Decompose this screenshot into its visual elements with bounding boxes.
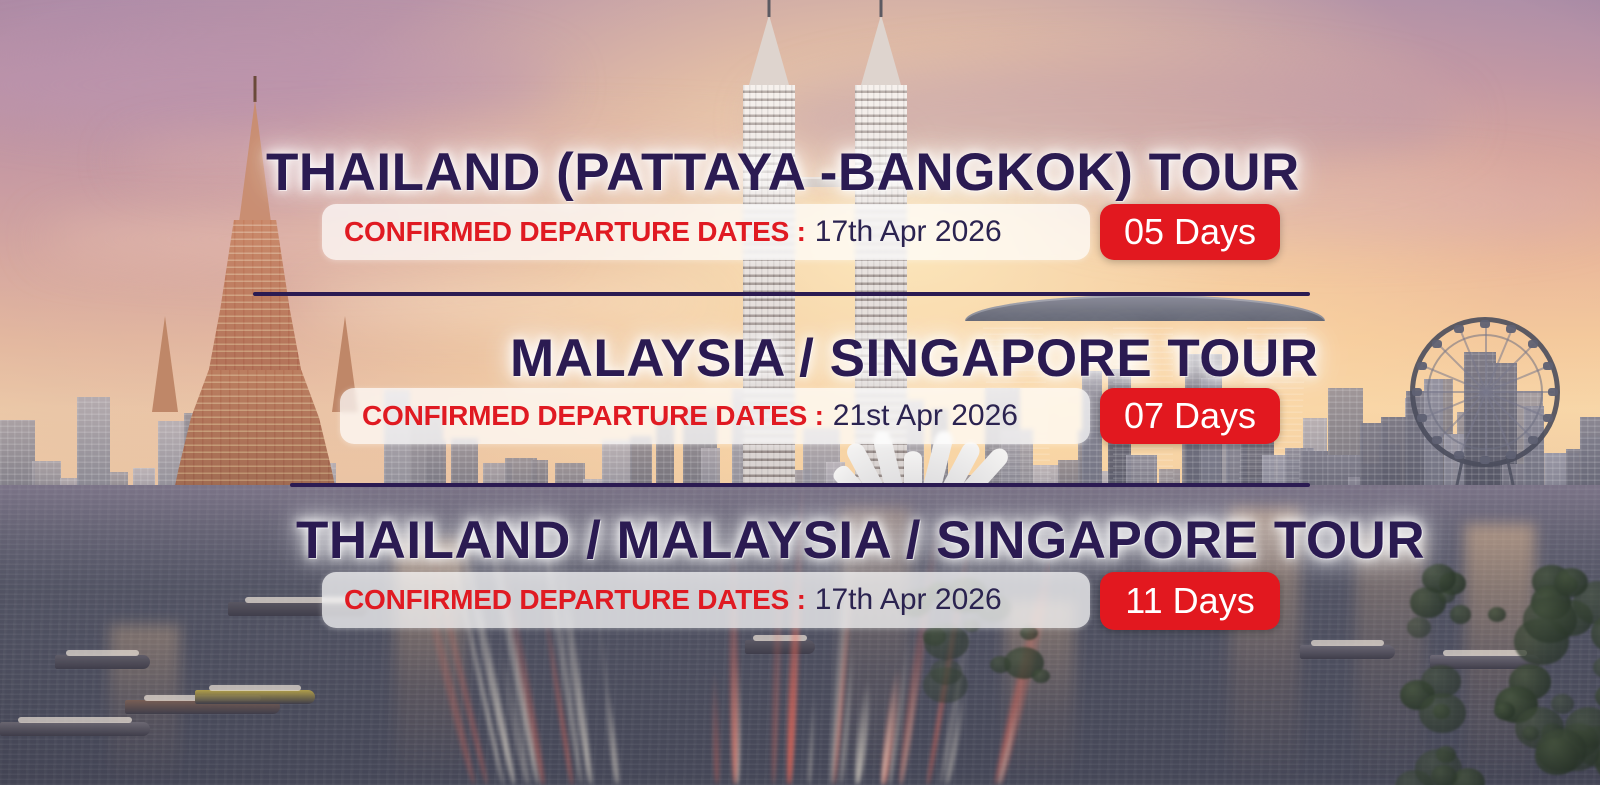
promo-content: THAILAND (PATTAYA -BANGKOK) TOUR CONFIRM… [0, 0, 1600, 785]
departure-date-1: 17th Apr 2026 [815, 215, 1002, 249]
departure-pill-2[interactable]: CONFIRMED DEPARTURE DATES : 21st Apr 202… [340, 388, 1090, 444]
section-divider-1 [253, 292, 1310, 296]
duration-badge-3[interactable]: 11 Days [1100, 572, 1280, 630]
departure-label-3: CONFIRMED DEPARTURE DATES : [344, 584, 806, 616]
departure-date-2: 21st Apr 2026 [833, 399, 1018, 433]
departure-pill-3[interactable]: CONFIRMED DEPARTURE DATES : 17th Apr 202… [322, 572, 1090, 628]
departure-date-3: 17th Apr 2026 [815, 583, 1002, 617]
tour-title-1: THAILAND (PATTAYA -BANGKOK) TOUR [266, 142, 1300, 203]
section-divider-2 [290, 483, 1310, 487]
departure-label-2: CONFIRMED DEPARTURE DATES : [362, 400, 824, 432]
duration-badge-1[interactable]: 05 Days [1100, 204, 1280, 260]
tour-title-3: THAILAND / MALAYSIA / SINGAPORE TOUR [296, 510, 1425, 571]
tour-promo-banner: THAILAND (PATTAYA -BANGKOK) TOUR CONFIRM… [0, 0, 1600, 785]
duration-badge-2[interactable]: 07 Days [1100, 388, 1280, 444]
tour-title-2: MALAYSIA / SINGAPORE TOUR [510, 328, 1319, 389]
departure-pill-1[interactable]: CONFIRMED DEPARTURE DATES : 17th Apr 202… [322, 204, 1090, 260]
departure-label-1: CONFIRMED DEPARTURE DATES : [344, 216, 806, 248]
